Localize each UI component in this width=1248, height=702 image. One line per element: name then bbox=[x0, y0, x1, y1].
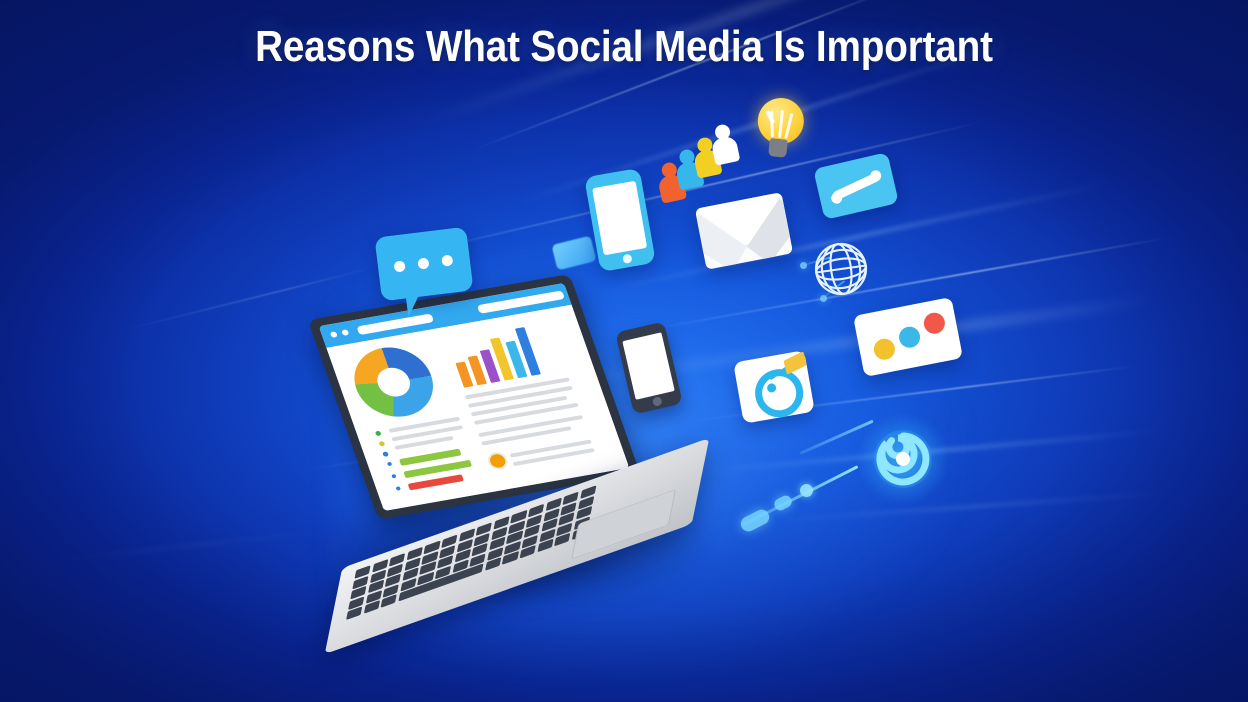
donut-chart bbox=[344, 342, 443, 423]
chat-bubble-icon bbox=[374, 227, 473, 302]
legend-bullet bbox=[378, 441, 385, 447]
legend-bullet bbox=[396, 486, 401, 491]
laptop-illustration bbox=[318, 285, 748, 630]
legend-bullet bbox=[382, 451, 389, 457]
phone-home-button bbox=[651, 396, 662, 407]
laptop-screen bbox=[319, 283, 629, 511]
phone-home-button bbox=[622, 254, 632, 264]
legend-bullet bbox=[391, 474, 396, 479]
bar-chart bbox=[445, 317, 563, 387]
globe-icon bbox=[808, 236, 874, 302]
target-arrow-icon bbox=[733, 350, 815, 424]
beam-node bbox=[800, 484, 813, 497]
legend-bullet bbox=[387, 462, 392, 467]
phone-screen bbox=[622, 332, 674, 399]
phone-screen bbox=[592, 181, 647, 256]
browser-dot bbox=[341, 329, 349, 336]
spiral-vortex-icon bbox=[858, 414, 948, 504]
gallery-dot bbox=[922, 311, 947, 336]
browser-dot bbox=[330, 331, 338, 338]
text-line bbox=[481, 426, 572, 446]
gallery-dot bbox=[872, 337, 897, 362]
illustration-canvas: Reasons What Social Media Is Important bbox=[0, 0, 1248, 702]
progress-bar bbox=[408, 474, 464, 490]
legend-bullet bbox=[375, 431, 382, 437]
arrow-flag bbox=[784, 351, 807, 375]
lightbulb-icon bbox=[754, 96, 806, 162]
page-title: Reasons What Social Media Is Important bbox=[75, 22, 1173, 72]
bulb-base bbox=[768, 138, 788, 158]
gallery-dot bbox=[897, 325, 922, 350]
avatar-badge-icon bbox=[485, 451, 510, 471]
